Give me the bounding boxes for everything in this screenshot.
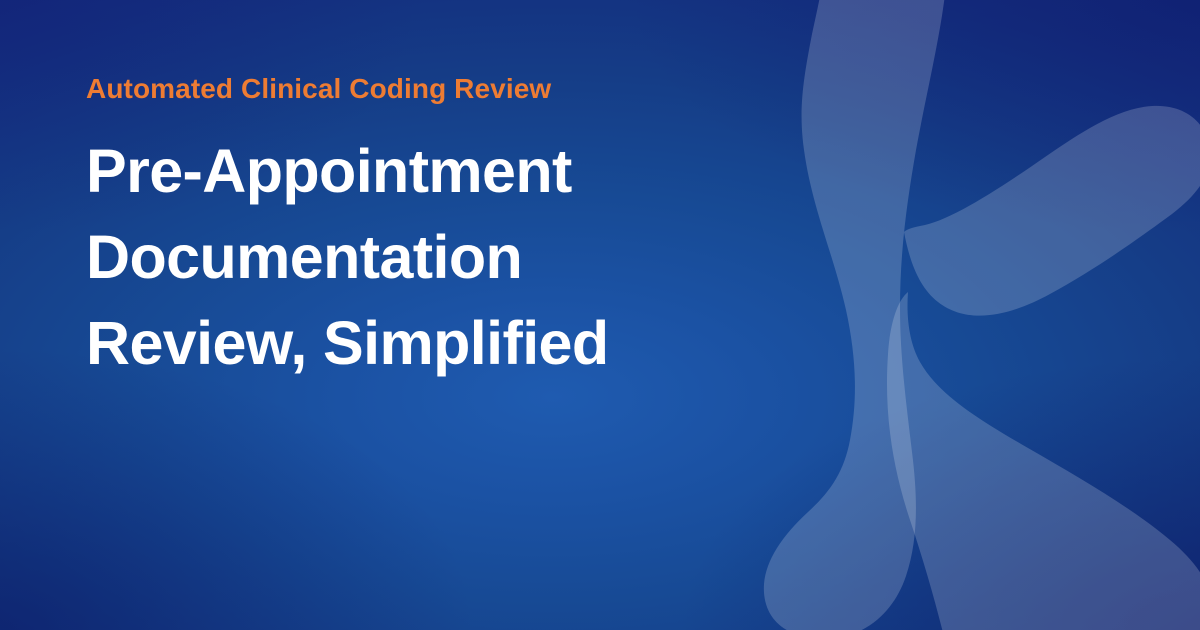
- banner-headline: Pre-Appointment Documentation Review, Si…: [86, 128, 676, 386]
- hero-banner: Automated Clinical Coding Review Pre-App…: [0, 0, 1200, 630]
- banner-eyebrow: Automated Clinical Coding Review: [86, 72, 786, 106]
- banner-content: Automated Clinical Coding Review Pre-App…: [86, 72, 786, 386]
